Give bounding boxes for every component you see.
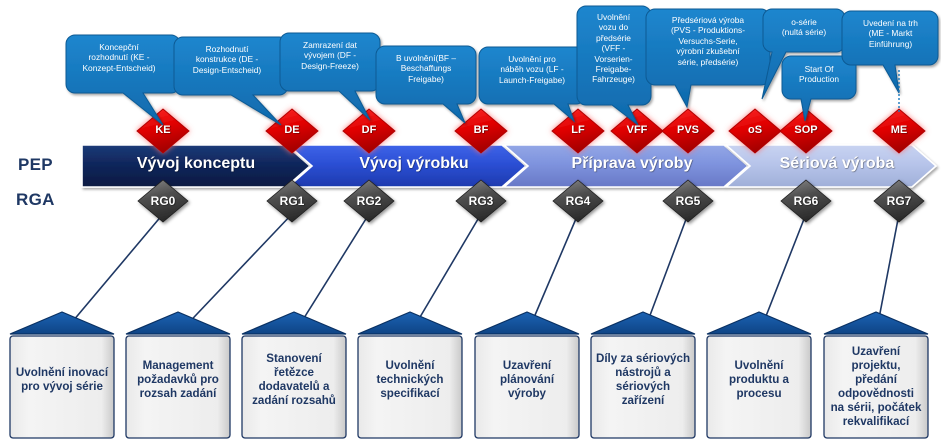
gate-label-rg7: RG7 xyxy=(869,194,929,208)
connector-rg0 xyxy=(62,214,163,334)
callout-text-sop: Start Of Production xyxy=(784,64,854,85)
phase-label-2: Vývoj výrobku xyxy=(300,155,528,173)
process-timeline-diagram: PEP RGA Vývoj konceptu Vývoj výrobku Pří… xyxy=(0,0,941,445)
callout-text-ke: Koncepční rozhodnutí (KE - Konzept-Entsc… xyxy=(62,42,176,73)
row-label-pep: PEP xyxy=(18,155,53,175)
deliverable-text-rg1: Management požadavků pro rozsah zadání xyxy=(124,359,232,401)
callout-text-os: o-série (nultá série) xyxy=(765,17,843,38)
phase-label-4: Sériová výroba xyxy=(738,155,936,173)
row-label-rga: RGA xyxy=(16,190,55,210)
phase-label-3: Příprava výroby xyxy=(516,155,748,173)
gate-label-rg0: RG0 xyxy=(133,194,193,208)
connector-rg1 xyxy=(178,214,292,334)
deliverable-text-rg2: Stanovení řetězce dodavatelů a zadání ro… xyxy=(240,352,348,408)
milestone-label-lf: LF xyxy=(548,124,608,136)
callout-text-lf: Uvolnění pro náběh vozu (LF - Launch-Fre… xyxy=(481,54,583,85)
callout-text-vff: Uvolnění vozu do předsérie (VFF - Vorser… xyxy=(578,12,649,85)
phase-label-1: Vývoj konceptu xyxy=(82,155,310,173)
milestone-label-df: DF xyxy=(339,124,399,136)
deliverable-text-rg3: Uvolnění technických specifikací xyxy=(356,359,464,401)
deliverable-text-rg5: Díly za sériových nástrojů a sériových z… xyxy=(589,352,697,408)
callout-text-bf: B uvolnění(BF – Beschaffungs Freigabe) xyxy=(378,53,474,84)
gate-label-rg4: RG4 xyxy=(548,194,608,208)
milestone-label-de: DE xyxy=(262,124,322,136)
deliverable-text-rg0: Uvolnění inovací pro vývoj série xyxy=(8,366,116,394)
callout-text-df: Zamrazení dat vývojem (DF - Design-Freez… xyxy=(282,40,378,71)
gate-label-rg5: RG5 xyxy=(658,194,718,208)
gate-label-rg6: RG6 xyxy=(776,194,836,208)
callout-text-me: Uvedení na trh (ME - Markt Einführung) xyxy=(845,18,936,49)
milestone-label-sop: SOP xyxy=(776,124,836,136)
callout-text-de: Rozhodnutí konstrukce (DE - Design-Entsc… xyxy=(170,44,284,75)
gate-label-rg2: RG2 xyxy=(339,194,399,208)
gate-label-rg1: RG1 xyxy=(262,194,322,208)
connector-rg2 xyxy=(294,214,369,334)
milestone-label-me: ME xyxy=(869,124,929,136)
milestone-label-pvs: PVS xyxy=(658,124,718,136)
gate-label-rg3: RG3 xyxy=(451,194,511,208)
deliverable-text-rg6: Uvolnění produktu a procesu xyxy=(705,359,813,401)
milestone-label-ke: KE xyxy=(133,124,193,136)
deliverable-text-rg4: Uzavření plánování výroby xyxy=(473,359,581,401)
callout-text-pvs: Předsériová výroba (PVS - Produktions- V… xyxy=(648,15,768,67)
deliverable-text-rg7: Uzavření projektu, předání odpovědnosti … xyxy=(822,345,930,429)
milestone-label-bf: BF xyxy=(451,124,511,136)
